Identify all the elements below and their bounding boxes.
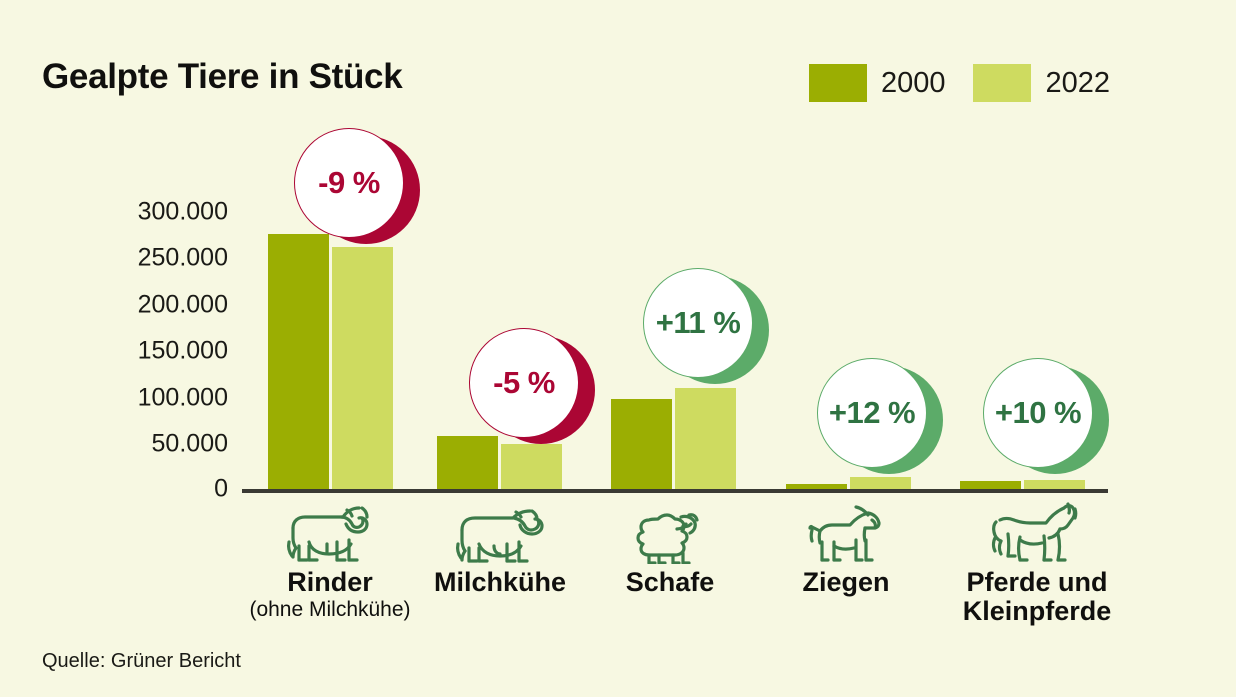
change-badge-pferde: +10 %: [983, 358, 1109, 484]
badge-circle: +10 %: [983, 358, 1093, 468]
plot-area: 300.000 250.000 200.000 150.000 100.000 …: [0, 0, 1236, 697]
badge-circle: +11 %: [643, 268, 753, 378]
status-badge: +10 %: [995, 395, 1081, 431]
goat-icon: [802, 502, 890, 564]
bar-schafe-2000[interactable]: [611, 399, 672, 489]
x-axis-baseline: [242, 489, 1108, 493]
category-label: Schafe: [570, 568, 770, 597]
sheep-icon: [629, 502, 711, 564]
change-badge-milchkuehe: -5 %: [469, 328, 595, 454]
status-badge: -9 %: [318, 165, 380, 201]
chart-container: Gealpte Tiere in Stück 2000 2022 300.000…: [0, 0, 1236, 697]
category-pferde: Pferde und Kleinpferde: [912, 502, 1162, 625]
badge-circle: +12 %: [817, 358, 927, 468]
source-note: Quelle: Grüner Bericht: [42, 650, 241, 673]
status-badge: +11 %: [656, 305, 741, 341]
category-label: Pferde und Kleinpferde: [912, 568, 1162, 625]
bar-rinder-2022[interactable]: [332, 247, 393, 489]
change-badge-rinder: -9 %: [294, 128, 420, 254]
badge-circle: -5 %: [469, 328, 579, 438]
bar-ziegen-2000[interactable]: [786, 484, 847, 489]
change-badge-schafe: +11 %: [643, 268, 769, 394]
cow-icon: [275, 502, 385, 564]
status-badge: +12 %: [829, 395, 915, 431]
status-badge: -5 %: [493, 365, 555, 401]
bar-rinder-2000[interactable]: [268, 234, 329, 489]
dairy-cow-icon: [446, 502, 554, 564]
bar-schafe-2022[interactable]: [675, 388, 736, 489]
category-sublabel: (ohne Milchkühe): [200, 598, 460, 621]
horse-icon: [982, 502, 1092, 564]
change-badge-ziegen: +12 %: [817, 358, 943, 484]
category-schafe: Schafe: [570, 502, 770, 597]
badge-circle: -9 %: [294, 128, 404, 238]
